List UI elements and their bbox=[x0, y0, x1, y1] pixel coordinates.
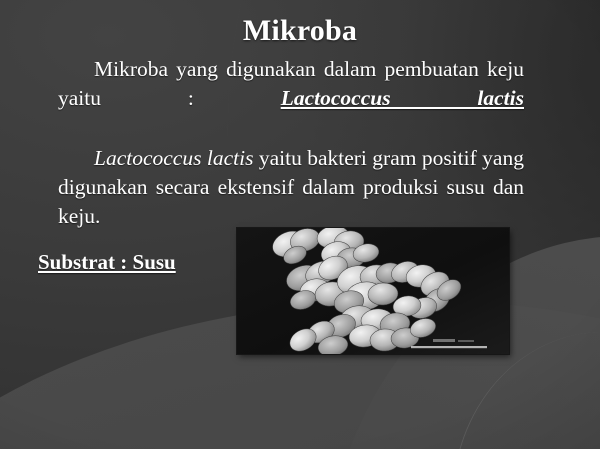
slide-content: Mikroba Mikroba yang digunakan dalam pem… bbox=[0, 0, 600, 449]
paragraph-1-species-name: Lactococcus lactis bbox=[281, 86, 524, 110]
presentation-slide: Mikroba Mikroba yang digunakan dalam pem… bbox=[0, 0, 600, 449]
page-title: Mikroba bbox=[0, 14, 600, 48]
substrat-label: Substrat : Susu bbox=[38, 250, 176, 275]
micrograph-svg bbox=[237, 228, 509, 354]
body-text-block: Mikroba yang digunakan dalam pembuatan k… bbox=[58, 55, 524, 231]
paragraph-1: Mikroba yang digunakan dalam pembuatan k… bbox=[58, 55, 524, 142]
paragraph-2: Lactococcus lactis yaitu bakteri gram po… bbox=[58, 144, 524, 231]
lactococcus-lactis-micrograph-image bbox=[237, 228, 509, 354]
paragraph-2-species-name: Lactococcus lactis bbox=[94, 146, 253, 170]
